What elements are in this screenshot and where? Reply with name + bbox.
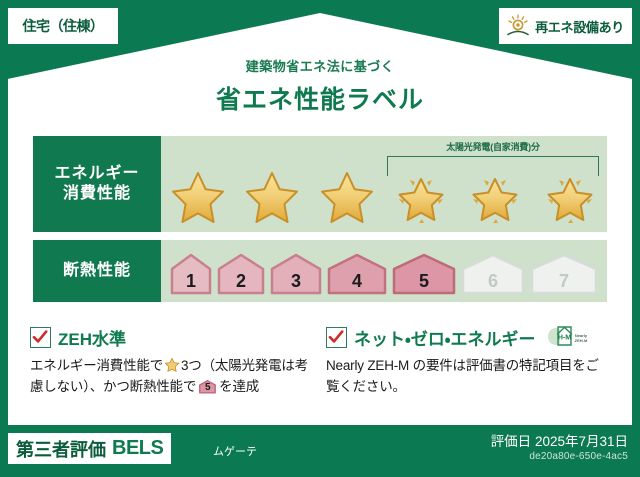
evaluation-date: 評価日 2025年7月31日 [491,430,628,450]
sun-icon [505,14,531,38]
insulation-level-value: 7 [559,272,569,296]
house-icon-inline: 5 [198,379,217,395]
zeh-standard-body-starcount: 3つ（太陽光発電 [181,358,281,373]
certificate-id: de20a80e-650e-4ac5 [529,451,628,462]
energy-performance-row: エネルギー 消費性能 太陽光発電(自家消費)分 [33,136,607,232]
zeh-standard-block: ZEH水準 エネルギー消費性能で3つ（太陽光発電は考慮しない）、かつ断熱性能で5… [30,324,315,398]
zeh-standard-header: ZEH水準 [30,324,315,350]
star-item-solar [458,162,532,228]
bels-en-label: BELS [112,437,163,460]
star-item [235,162,309,228]
insulation-performance-label: 断熱性能 [33,240,161,302]
zeh-standard-body: エネルギー消費性能で3つ（太陽光発電は考慮しない）、かつ断熱性能で5を達成 [30,356,315,398]
zeh-standard-body-part1: エネルギー消費性能で [30,358,163,373]
star-icon [168,168,228,228]
insulation-level-item: 5 [391,252,457,296]
star-item-solar [384,162,458,228]
energy-performance-body: 太陽光発電(自家消費)分 [161,136,607,232]
net-zero-energy-header: ネット・ゼロ・エネルギー H-M Nearly ZEH-M [326,324,611,350]
insulation-performance-row: 断熱性能 1 2 [33,240,607,302]
energy-performance-label-line2: 消費性能 [63,184,131,204]
zeh-standard-title: ZEH水準 [58,325,126,350]
star-icon-inline [164,357,180,373]
star-icon [242,168,302,228]
energy-performance-label: エネルギー 消費性能 [33,136,161,232]
label-root: 住宅（住棟） 再エネ設備あり 建築物省エネ法に基づく 省エネ性能ラベル [0,0,640,477]
renewable-energy-badge-label: 再エネ設備あり [535,17,624,36]
svg-text:H-M: H-M [557,333,571,342]
star-sparkle-icon [465,168,525,228]
star-item [310,162,384,228]
label-title: 建築物省エネ法に基づく 省エネ性能ラベル [0,56,640,116]
star-rating [161,162,607,228]
star-sparkle-icon [391,168,451,228]
net-zero-energy-body: Nearly ZEH-M の要件は評価書の特記項目をご覧ください。 [326,356,611,398]
building-type-tag: 住宅（住棟） [8,8,118,44]
bels-jp-label: 第三者評価 [16,436,106,462]
zeh-standard-body-part3: を達成 [219,379,259,394]
solar-bracket-label: 太陽光発電(自家消費)分 [387,140,599,153]
insulation-performance-body: 1 2 3 4 [161,240,607,302]
insulation-level-item: 7 [529,252,599,296]
zeh-standard-body-house-value: 5 [198,379,217,395]
checkbox-checked-icon [30,327,51,348]
title-main: 省エネ性能ラベル [0,80,640,116]
insulation-level-value: 5 [419,272,429,296]
insulation-level-value: 3 [291,272,301,296]
insulation-level-item: 6 [460,252,526,296]
insulation-level-value: 6 [488,272,498,296]
insulation-level-item: 4 [326,252,388,296]
insulation-level-item: 2 [216,252,266,296]
zeh-m-logo-icon: H-M Nearly ZEH-M [545,324,589,350]
insulation-level-scale: 1 2 3 4 [169,246,599,296]
star-item-solar [533,162,607,228]
title-subtitle: 建築物省エネ法に基づく [0,56,640,75]
insulation-level-item: 1 [169,252,213,296]
checkbox-checked-icon [326,327,347,348]
owner-name: ムゲーテ [213,443,257,459]
net-zero-energy-block: ネット・ゼロ・エネルギー H-M Nearly ZEH-M Nearly ZEH… [326,324,611,398]
energy-performance-label-line1: エネルギー [54,164,139,184]
star-icon [317,168,377,228]
building-type-tag-label: 住宅（住棟） [23,16,104,36]
star-item [161,162,235,228]
bels-certification-mark: 第三者評価 BELS [8,433,171,464]
label-footer: 第三者評価 BELS ムゲーテ 評価日 2025年7月31日 de20a80e-… [0,425,640,477]
star-sparkle-icon [540,168,600,228]
svg-text:ZEH-M: ZEH-M [574,338,587,343]
insulation-level-item: 3 [269,252,323,296]
insulation-level-value: 1 [186,272,196,296]
insulation-level-value: 2 [236,272,246,296]
insulation-level-value: 4 [352,272,362,296]
net-zero-energy-title: ネット・ゼロ・エネルギー [354,325,536,350]
renewable-energy-badge: 再エネ設備あり [499,8,632,44]
